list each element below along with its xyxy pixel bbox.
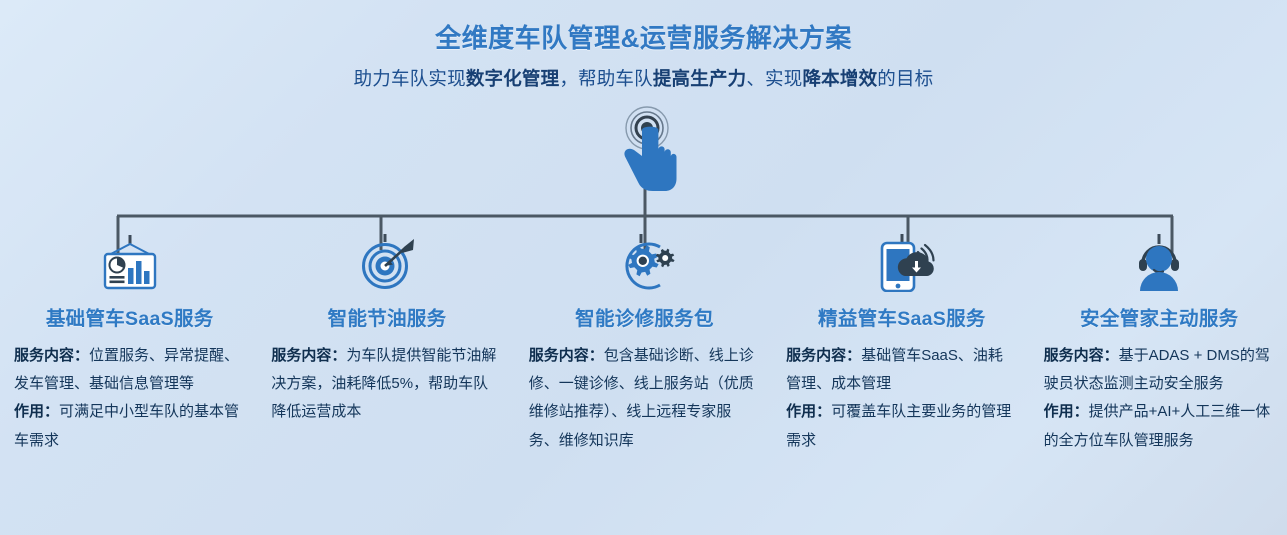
column-4-line-2: 作用：可覆盖车队主要业务的管理需求	[786, 398, 1017, 454]
column-5-line-2: 作用：提供产品+AI+人工三维一体的全方位车队管理服务	[1044, 398, 1275, 454]
service-column-4[interactable]: 精益管车SaaS服务 服务内容：基础管车SaaS、油耗管理、成本管理 作用：可覆…	[772, 232, 1029, 455]
subtitle-part-2: ，帮助车队	[559, 68, 653, 89]
gears-icon-wrap	[529, 232, 760, 294]
subtitle-bold-3: 降本增效	[802, 68, 877, 89]
column-1-line-1: 服务内容：位置服务、异常提醒、发车管理、基础信息管理等	[14, 342, 245, 398]
page-title: 全维度车队管理&运营服务解决方案	[0, 22, 1287, 55]
column-4-label-1: 服务内容：	[786, 347, 861, 364]
subtitle-bold-1: 数字化管理	[466, 68, 560, 89]
headset-agent-icon-wrap	[1044, 232, 1275, 294]
column-title-2: 智能节油服务	[271, 302, 502, 331]
phone-cloud-download-icon-wrap	[786, 232, 1017, 294]
page-subtitle: 助力车队实现数字化管理，帮助车队提高生产力、实现降本增效的目标	[0, 67, 1287, 91]
phone-cloud-download-icon	[866, 234, 938, 292]
column-body-2: 服务内容：为车队提供智能节油解决方案，油耗降低5%，帮助车队降低运营成本	[271, 342, 502, 427]
column-1-line-2: 作用：可满足中小型车队的基本管车需求	[14, 398, 245, 454]
target-arrow-icon-wrap	[271, 232, 502, 294]
subtitle-bold-2: 提高生产力	[653, 68, 747, 89]
column-4-label-2: 作用：	[786, 403, 831, 420]
column-body-3: 服务内容：包含基础诊断、线上诊修、一键诊修、线上服务站（优质维修站推荐）、线上远…	[529, 342, 760, 455]
column-4-line-1: 服务内容：基础管车SaaS、油耗管理、成本管理	[786, 342, 1017, 398]
column-title-3: 智能诊修服务包	[529, 302, 760, 331]
column-3-label-1: 服务内容：	[529, 347, 604, 364]
gears-icon	[608, 234, 680, 292]
column-body-1: 服务内容：位置服务、异常提醒、发车管理、基础信息管理等 作用：可满足中小型车队的…	[14, 342, 245, 455]
column-5-label-2: 作用：	[1044, 403, 1089, 420]
dashboard-board-icon	[95, 235, 165, 291]
column-5-line-1: 服务内容：基于ADAS + DMS的驾驶员状态监测主动安全服务	[1044, 342, 1275, 398]
column-body-4: 服务内容：基础管车SaaS、油耗管理、成本管理 作用：可覆盖车队主要业务的管理需…	[786, 342, 1017, 455]
dashboard-board-icon-wrap	[14, 232, 245, 294]
column-title-4: 精益管车SaaS服务	[786, 302, 1017, 331]
column-2-label-1: 服务内容：	[271, 347, 346, 364]
column-1-label-2: 作用：	[14, 403, 59, 420]
column-2-line-1: 服务内容：为车队提供智能节油解决方案，油耗降低5%，帮助车队降低运营成本	[271, 342, 502, 427]
headset-agent-icon	[1124, 234, 1194, 292]
header: 全维度车队管理&运营服务解决方案 助力车队实现数字化管理，帮助车队提高生产力、实…	[0, 22, 1287, 91]
column-1-label-1: 服务内容：	[14, 347, 89, 364]
infographic-canvas: 全维度车队管理&运营服务解决方案 助力车队实现数字化管理，帮助车队提高生产力、实…	[0, 0, 1287, 535]
subtitle-part-3: 、实现	[746, 68, 802, 89]
column-title-5: 安全管家主动服务	[1044, 302, 1275, 331]
service-column-2[interactable]: 智能节油服务 服务内容：为车队提供智能节油解决方案，油耗降低5%，帮助车队降低运…	[257, 232, 514, 455]
hand-tap-icon	[608, 104, 686, 196]
column-body-5: 服务内容：基于ADAS + DMS的驾驶员状态监测主动安全服务 作用：提供产品+…	[1044, 342, 1275, 455]
subtitle-part-4: 的目标	[877, 68, 933, 89]
column-title-1: 基础管车SaaS服务	[14, 302, 245, 331]
column-5-label-1: 服务内容：	[1044, 347, 1119, 364]
service-column-5[interactable]: 安全管家主动服务 服务内容：基于ADAS + DMS的驾驶员状态监测主动安全服务…	[1030, 232, 1287, 455]
subtitle-part-1: 助力车队实现	[354, 68, 466, 89]
target-arrow-icon	[352, 234, 422, 292]
service-columns: 基础管车SaaS服务 服务内容：位置服务、异常提醒、发车管理、基础信息管理等 作…	[0, 232, 1287, 455]
service-column-1[interactable]: 基础管车SaaS服务 服务内容：位置服务、异常提醒、发车管理、基础信息管理等 作…	[0, 232, 257, 455]
service-column-3[interactable]: 智能诊修服务包 服务内容：包含基础诊断、线上诊修、一键诊修、线上服务站（优质维修…	[515, 232, 772, 455]
column-3-line-1: 服务内容：包含基础诊断、线上诊修、一键诊修、线上服务站（优质维修站推荐）、线上远…	[529, 342, 760, 455]
